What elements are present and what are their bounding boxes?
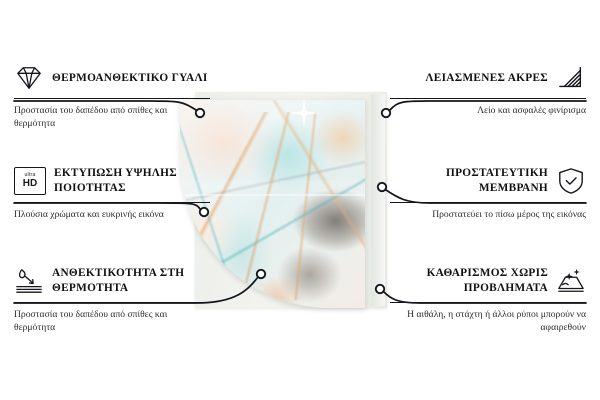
feature-high-quality-print: ultra HD ΕΚΤΥΠΩΣΗ ΥΨΗΛΗΣ ΠΟΙΟΤΗΤΑΣ Πλούσ…	[14, 166, 210, 221]
ultra-hd-icon: ultra HD	[14, 167, 46, 195]
polished-edge-icon	[556, 64, 586, 92]
flame-heat-resistance-icon	[14, 267, 44, 295]
glare-sparkle-icon	[287, 96, 321, 130]
feature-title: ΑΝΘΕΚΤΙΚΟΤΗΤΑ ΣΤΗ ΘΕΡΜΟΤΗΤΑ	[52, 266, 210, 296]
feature-title: ΚΑΘΑΡΙΣΜΟΣ ΧΩΡΙΣ ΠΡΟΒΛΗΜΑΤΑ	[390, 266, 548, 296]
feature-divider	[14, 302, 210, 303]
feature-divider	[390, 202, 586, 203]
feature-title: ΠΡΟΣΤΑΤΕΥΤΙΚΗ ΜΕΜΒΡΑΝΗ	[390, 166, 548, 196]
product-panel-edge	[371, 94, 385, 306]
shield-check-icon	[556, 167, 586, 195]
feature-title: ΕΚΤΥΠΩΣΗ ΥΨΗΛΗΣ ΠΟΙΟΤΗΤΑΣ	[54, 166, 210, 196]
feature-heat-resistant-glass: ΘΕΡΜΟΑΝΘΕΚΤΙΚΟ ΓΥΑΛΙ Προστασία του δαπέδ…	[14, 64, 210, 130]
diamond-icon	[14, 64, 44, 92]
feature-subtitle: Η αιθάλη, η στάχτη ή άλλοι ρύποι μπορούν…	[390, 308, 586, 334]
feature-easy-cleaning: ΚΑΘΑΡΙΣΜΟΣ ΧΩΡΙΣ ΠΡΟΒΛΗΜΑΤΑ Η αιθάλη, η …	[390, 266, 586, 334]
feature-title: ΘΕΡΜΟΑΝΘΕΚΤΙΚΟ ΓΥΑΛΙ	[52, 71, 208, 86]
sparkle-clean-icon	[556, 267, 586, 295]
feature-title: ΛΕΙΑΣΜΕΝΕΣ ΑΚΡΕΣ	[425, 71, 548, 86]
ultra-hd-icon-bottom: HD	[23, 179, 37, 189]
feature-polished-edges: ΛΕΙΑΣΜΕΝΕΣ ΑΚΡΕΣ Λείο και ασφαλές φινίρι…	[390, 64, 586, 117]
feature-divider	[390, 98, 586, 99]
feature-divider	[14, 202, 210, 203]
feature-subtitle: Προστασία του δαπέδου από σπίθες και θερ…	[14, 104, 210, 130]
feature-protective-membrane: ΠΡΟΣΤΑΤΕΥΤΙΚΗ ΜΕΜΒΡΑΝΗ Προστατεύει το πί…	[390, 166, 586, 221]
feature-heat-resistance: ΑΝΘΕΚΤΙΚΟΤΗΤΑ ΣΤΗ ΘΕΡΜΟΤΗΤΑ Προστασία το…	[14, 266, 210, 334]
feature-subtitle: Πλούσια χρώματα και ευκρινής εικόνα	[14, 208, 210, 221]
feature-divider	[14, 98, 210, 99]
feature-divider	[390, 302, 586, 303]
feature-subtitle: Προστασία του δαπέδου από σπίθες και θερ…	[14, 308, 210, 334]
feature-subtitle: Προστατεύει το πίσω μέρος της εικόνας	[390, 208, 586, 221]
infographic-canvas: ΘΕΡΜΟΑΝΘΕΚΤΙΚΟ ΓΥΑΛΙ Προστασία του δαπέδ…	[0, 0, 600, 400]
feature-subtitle: Λείο και ασφαλές φινίρισμα	[390, 104, 586, 117]
